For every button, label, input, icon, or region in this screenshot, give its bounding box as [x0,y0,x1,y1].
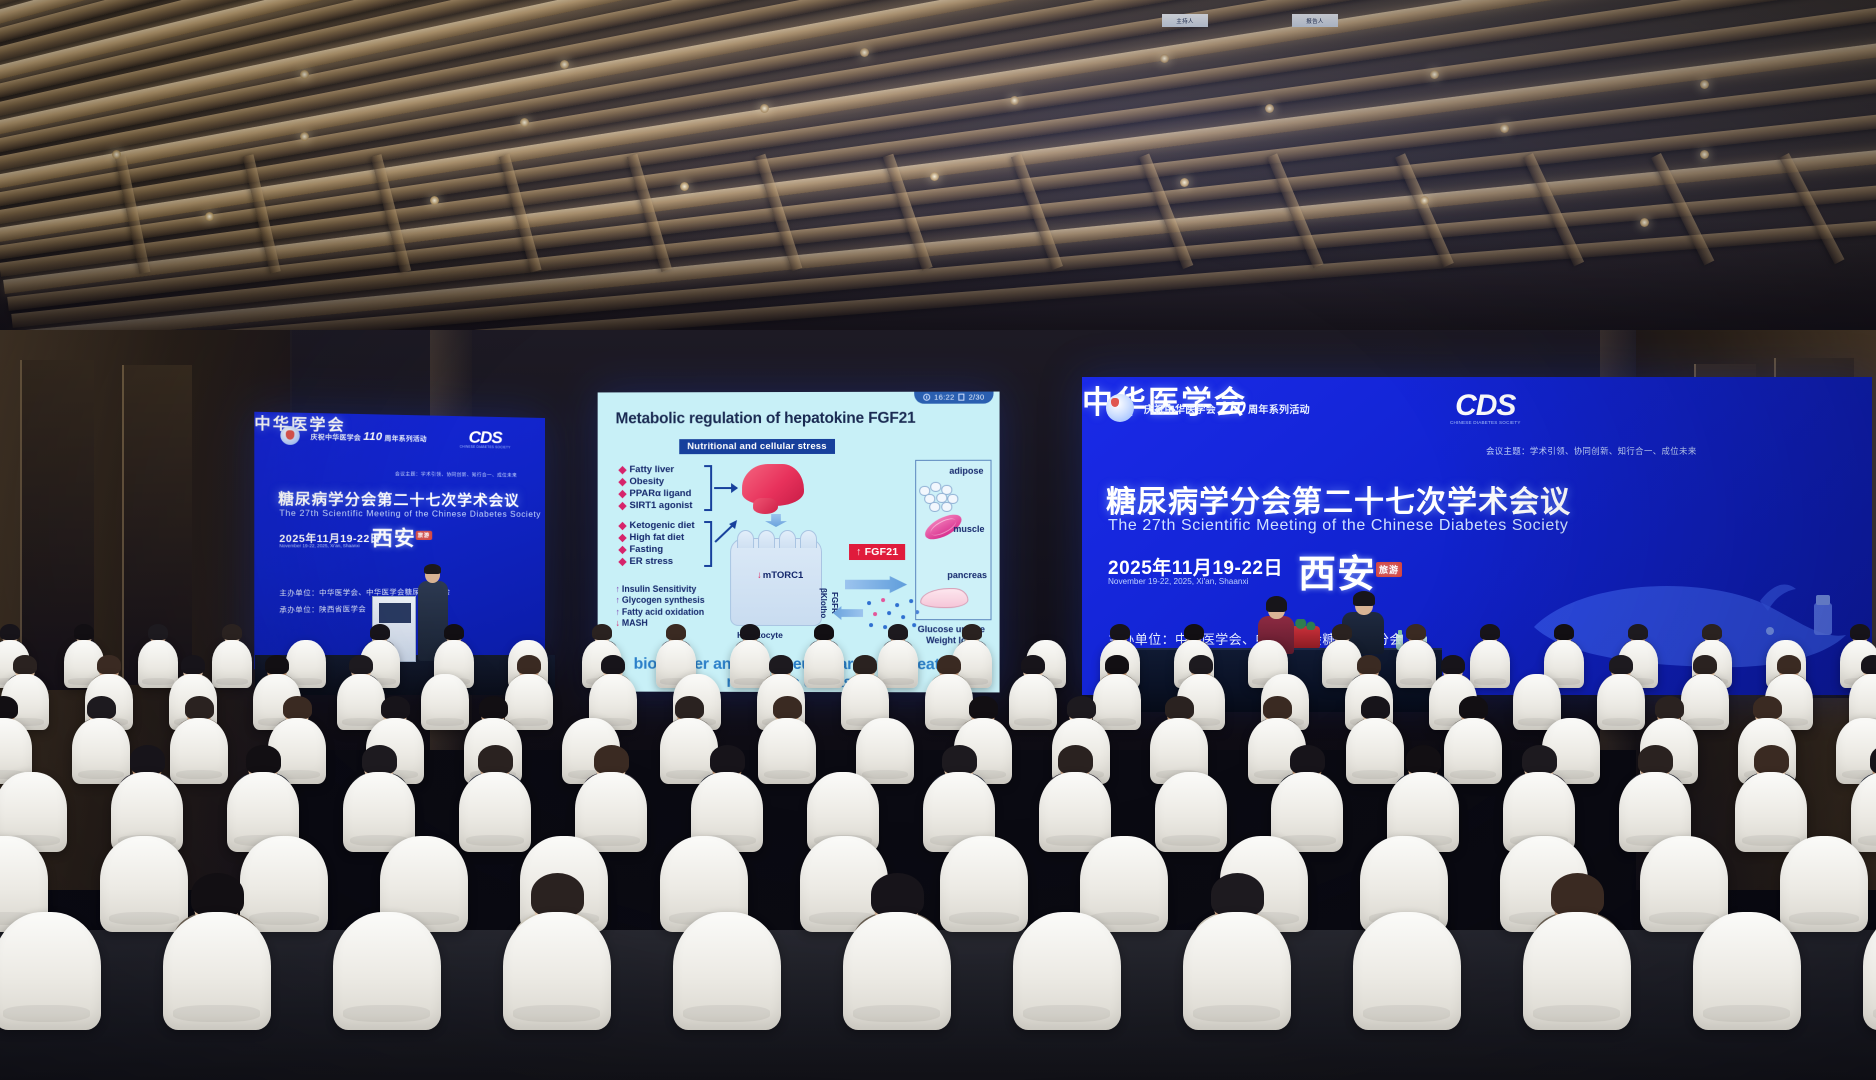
audience-hair [0,696,18,719]
bullet-item: SIRT1 agonist [620,500,693,512]
audience-hair [1184,624,1204,640]
metric-text: Fatty acid oxidation [622,607,704,618]
audience-chair [1155,772,1227,852]
diamond-bullet-icon [618,558,626,566]
audience-hair [1655,696,1683,719]
audience-chair [1470,640,1510,688]
audience-chair [843,912,951,1030]
audience-hair [969,696,997,719]
banner-theme-right: 会议主题：学术引领、协同创新、知行合一、成位未来 [1486,445,1697,457]
audience-chair [1693,912,1801,1030]
audience-hair [283,696,311,719]
pancreas-label: pancreas [947,570,987,580]
audience-hair [1332,624,1352,640]
anniversary-text-right: 庆祝中华医学会 [1144,401,1216,416]
audience-hair [13,655,37,674]
conference-hall-photo: 庆祝中华医学会 110 周年系列活动 CDS CHINESE DIABETES … [0,0,1876,1080]
audience-hair [349,655,373,674]
audience-hair [370,624,390,640]
banner-title-en-left: The 27th Scientific Meeting of the Chine… [279,509,541,519]
audience-hair [1290,745,1325,773]
bullet-text: PPARα ligand [629,488,691,500]
audience-hair [1406,624,1426,640]
audience-hair [1021,655,1045,674]
audience-hair [592,624,612,640]
banner-title-en-right: The 27th Scientific Meeting of the Chine… [1108,517,1569,535]
audience-chair [1523,912,1631,1030]
audience-hair [1861,655,1876,674]
diamond-bullet-icon [618,546,626,554]
city-seal-left: 西安旅游 [372,521,432,551]
adipose-illustration [919,482,959,512]
audience-chair [1183,912,1291,1030]
audience-hair [675,696,703,719]
metric-text: Insulin Sensitivity [622,584,696,595]
audience-hair [1522,745,1557,773]
audience-hair [87,696,115,719]
audience-chair [1009,674,1057,730]
hepatocyte-cell [730,538,822,626]
page-icon [959,394,965,401]
audience-hair [479,696,507,719]
audience-hair [1628,624,1648,640]
bullet-text: Fatty liver [629,464,674,476]
direction-arrow-icon: ↑ [616,584,620,595]
metric-item: ↑Glycogen synthesis [616,595,705,606]
audience-hair [1058,745,1093,773]
audience-hair [1105,655,1129,674]
bullet-item: Ketogenic diet [620,520,695,532]
audience-hair [888,624,908,640]
fgf21-badge: ↑ FGF21 [849,544,905,560]
metric-item: ↑Insulin Sensitivity [616,584,705,595]
bullet-text: Ketogenic diet [629,520,694,532]
diamond-bullet-icon [618,466,626,474]
cds-logo-text-left: CDS [469,429,502,447]
anniversary-text-left: 庆祝中华医学会 [311,431,362,442]
audience-hair [381,696,409,719]
audience-hair [1211,873,1264,916]
audience-hair [97,655,121,674]
cds-logo-sub-right: CHINESE DIABETES SOCIETY [1450,421,1521,426]
audience-chair [1780,836,1868,932]
audience-chair [940,836,1028,932]
audience-hair [1067,696,1095,719]
audience-hair [1753,696,1781,719]
audience-hair [853,655,877,674]
audience-hair [1870,745,1876,773]
audience-hair [1702,624,1722,640]
slide-title: Metabolic regulation of hepatokine FGF21 [616,410,986,429]
metric-text: MASH [622,618,648,629]
arrow-fgf21-out [845,576,907,593]
audience-hair [181,655,205,674]
diamond-bullet-icon [618,522,626,530]
audience-chair [170,718,228,784]
audience-hair [1638,745,1673,773]
anniversary-suffix-left: 周年系列活动 [385,432,427,443]
audience-hair [185,696,213,719]
audience-chair [758,718,816,784]
nameplate-right: 报告人 [1292,14,1338,27]
audience-hair [962,624,982,640]
audience-hair [222,624,242,640]
audience-seating [0,640,1876,1080]
metric-item: ↑Fatty acid oxidation [616,607,705,618]
bullet-item: PPARα ligand [620,488,693,500]
audience-hair [773,696,801,719]
banner-theme-left: 会议主题：学术引领、协同创新、知行合一、成位未来 [395,471,517,478]
audience-hair [478,745,513,773]
audience-hair [1777,655,1801,674]
audience-hair [769,655,793,674]
anniversary-suffix-right: 周年系列活动 [1248,401,1310,416]
anniversary-number-left: 110 [363,431,382,444]
audience-hair [1850,624,1870,640]
audience-hair [871,873,924,916]
audience-chair [459,772,531,852]
diamond-bullet-icon [618,490,626,498]
audience-hair [1609,655,1633,674]
audience-chair [1735,772,1807,852]
audience-hair [191,873,244,916]
audience-chair [1396,640,1436,688]
audience-hair [531,873,584,916]
audience-hair [1357,655,1381,674]
direction-arrow-icon: ↑ [616,595,620,606]
audience-hair [710,745,745,773]
audience-hair [1441,655,1465,674]
bullet-item: Fasting [620,544,695,556]
audience-hair [444,624,464,640]
banner-title-cn2-right: 糖尿病学分会第二十七次学术会议 [1106,477,1571,521]
audience-hair [1693,655,1717,674]
audience-chair [673,912,781,1030]
city-seal-right: 西安旅游 [1298,543,1402,598]
bullet-item: Obesity [620,476,693,488]
audience-chair [1013,912,1121,1030]
audience-chair [856,718,914,784]
audience-hair [1480,624,1500,640]
slide-timer-value: 16:22 [934,393,954,402]
audience-hair [0,624,20,640]
audience-chair [163,912,271,1030]
cms-emblem-icon [280,426,299,445]
cds-logo-text-right: CDS [1455,391,1515,421]
audience-chair [804,640,844,688]
mtorc1-label: ↓mTORC1 [757,570,803,581]
cms-emblem-icon-right [1106,394,1134,422]
bullet-item: High fat diet [620,532,695,544]
bullet-text: Fasting [629,544,663,556]
audience-hair [148,624,168,640]
audience-hair [1361,696,1389,719]
audience-chair [1353,912,1461,1030]
arrow-to-liver [714,487,737,489]
slide-page-value: 2/30 [969,393,985,402]
audience-hair [517,655,541,674]
brace-lower [704,521,712,567]
nameplate-left: 主持人 [1162,14,1208,27]
audience-hair [130,745,165,773]
bullet-text: High fat diet [629,532,684,544]
stress-banner: Nutritional and cellular stress [679,439,835,454]
cohost-line-left: 承办单位：陕西省医学会 [279,604,366,615]
audience-chair [212,640,252,688]
podium-monitor [379,603,411,623]
bullet-text: Obesity [629,476,664,488]
audience-chair [138,640,178,688]
metric-text: Glycogen synthesis [622,595,705,606]
audience-chair [1851,772,1876,852]
clock-icon [923,394,930,401]
audience-hair [246,745,281,773]
audience-chair [1039,772,1111,852]
audience-hair [666,624,686,640]
bullet-item: ER stress [620,556,695,568]
audience-hair [1263,696,1291,719]
audience-hair [1551,873,1604,916]
bullet-item: Fatty liver [620,464,693,476]
bullet-text: SIRT1 agonist [629,500,692,512]
banner-title-cn2-left: 糖尿病学分会第二十七次学术会议 [278,488,519,511]
diamond-bullet-icon [618,502,626,510]
bullet-list-stimuli: Fatty liverObesityPPARα ligandSIRT1 agon… [620,464,693,512]
audience-chair [1640,836,1728,932]
adipose-label: adipose [949,466,983,476]
audience-chair [1597,674,1645,730]
banner-date-cn-right: 2025年11月19-22日 [1108,553,1283,580]
audience-hair [594,745,629,773]
audience-chair [421,674,469,730]
audience-hair [814,624,834,640]
bullet-text: ER stress [629,556,673,568]
audience-hair [1754,745,1789,773]
audience-hair [601,655,625,674]
audience-hair [1110,624,1130,640]
down-arrow-liver-to-cell [765,514,787,527]
muscle-label: muscle [953,524,984,534]
cds-logo-sub-left: CHINESE DIABETES SOCIETY [460,446,511,450]
audience-hair [362,745,397,773]
brace-upper [704,465,712,511]
banner-date-en-right: November 19-22, 2025, Xi'an, Shaanxi [1108,577,1248,586]
direction-arrow-icon: ↑ [616,607,620,618]
audience-hair [1165,696,1193,719]
diamond-bullet-icon [618,534,626,542]
banner-date-en-left: November 19-22, 2025, Xi'an, Shaanxi [279,543,359,548]
audience-chair [0,912,101,1030]
audience-chair [1444,718,1502,784]
audience-hair [74,624,94,640]
anniversary-number-right: 110 [1218,398,1246,418]
liver-illustration [742,464,804,506]
bullet-list-diet: Ketogenic dietHigh fat dietFastingER str… [620,520,695,568]
audience-hair [1406,745,1441,773]
slide-timer-badge: 16:22 2/30 [914,392,993,404]
audience-chair [503,912,611,1030]
audience-hair [1554,624,1574,640]
audience-hair [265,655,289,674]
audience-hair [740,624,760,640]
audience-hair [1189,655,1213,674]
diamond-bullet-icon [618,478,626,486]
audience-hair [942,745,977,773]
audience-hair [1459,696,1487,719]
audience-hair [937,655,961,674]
audience-chair [333,912,441,1030]
bklotho-label: βKlotho [819,588,828,618]
